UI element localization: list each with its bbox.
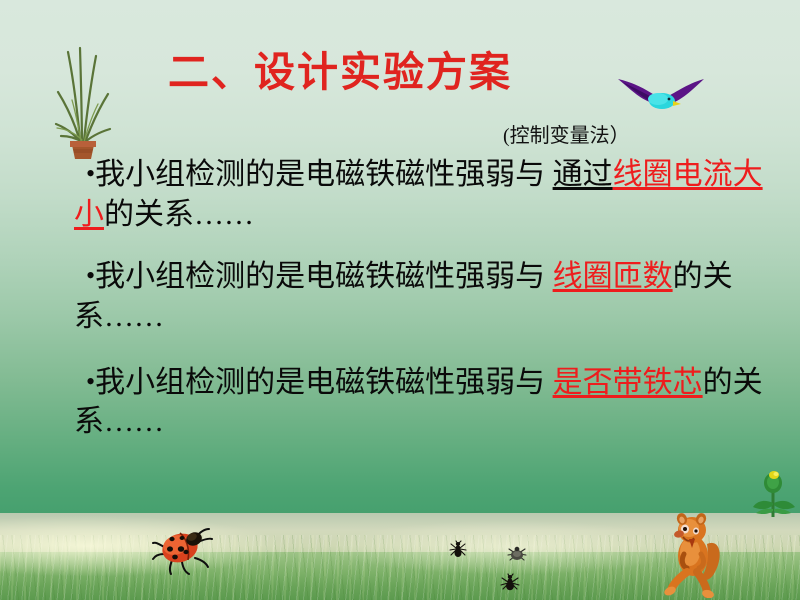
small-flower-icon	[752, 463, 796, 519]
potted-grass-plant-icon	[48, 22, 118, 162]
ant-icon	[499, 573, 521, 591]
bullet-list: •我小组检测的是电磁铁磁性强弱与 通过线圈电流大小的关系…… •我小组检测的是电…	[74, 155, 792, 442]
background-glow-left	[0, 516, 280, 576]
bullet-marker: •	[86, 261, 95, 290]
list-item: •我小组检测的是电磁铁磁性强弱与 通过线圈电流大小的关系……	[74, 155, 792, 235]
squirrel-icon	[663, 508, 725, 598]
bullet-lead-text: 我小组检测的是电磁铁磁性强弱与	[95, 158, 553, 191]
ant-icon	[448, 540, 468, 558]
bullet-marker: •	[86, 159, 95, 188]
page-title: 二、设计实验方案	[168, 52, 512, 93]
list-item: •我小组检测的是电磁铁磁性强弱与 线圈匝数的关系……	[74, 257, 792, 337]
list-item: •我小组检测的是电磁铁磁性强弱与 是否带铁芯的关系……	[74, 363, 792, 443]
bullet-tail-text: 的关系……	[104, 198, 254, 231]
page-subtitle: (控制变量法）	[503, 119, 630, 148]
ladybug-icon	[150, 520, 216, 576]
bullet-underlined-black: 通过	[553, 158, 613, 191]
bullet-marker: •	[86, 367, 95, 396]
ant-icon	[505, 545, 529, 563]
bullet-highlight-red: 是否带铁芯	[553, 366, 703, 399]
bullet-highlight-red: 线圈匝数	[553, 260, 673, 293]
flying-bird-icon	[612, 68, 708, 114]
bullet-lead-text: 我小组检测的是电磁铁磁性强弱与	[95, 366, 553, 399]
slide-canvas: 二、设计实验方案 (控制变量法） •我小组检测的是电磁铁磁性强弱与 通过线圈电流…	[0, 0, 800, 600]
bullet-lead-text: 我小组检测的是电磁铁磁性强弱与	[95, 260, 553, 293]
